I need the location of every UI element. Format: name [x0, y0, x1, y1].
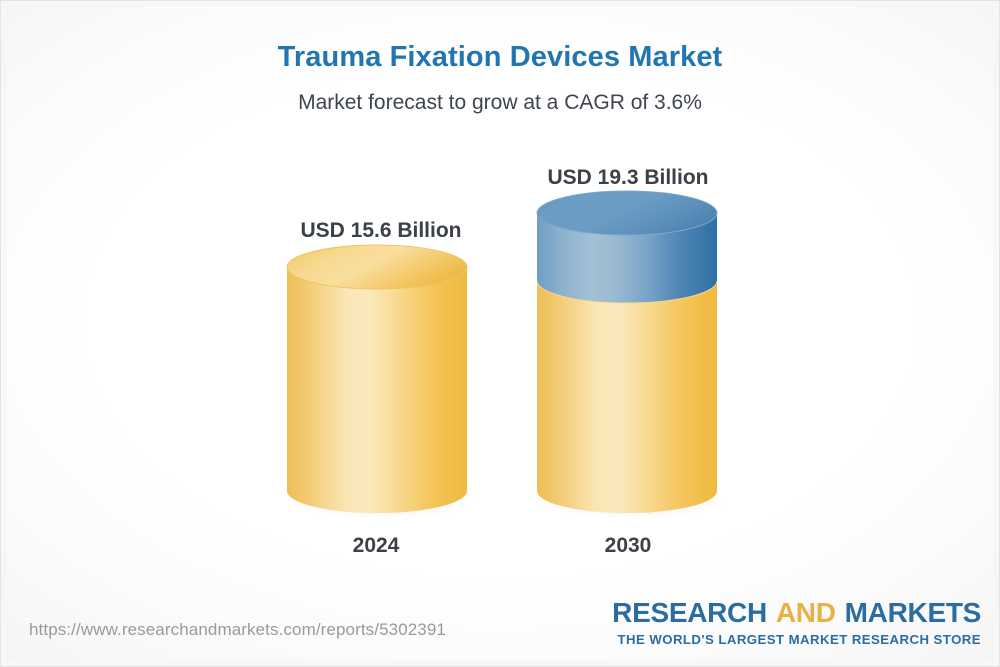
infographic-canvas: Trauma Fixation Devices Market Market fo… — [0, 0, 1000, 667]
source-url[interactable]: https://www.researchandmarkets.com/repor… — [29, 620, 446, 640]
bar-value-label-2030: USD 19.3 Billion — [468, 166, 788, 190]
research-and-markets-logo[interactable]: RESEARCHANDMARKETS THE WORLD'S LARGEST M… — [612, 599, 981, 646]
chart-subtitle: Market forecast to grow at a CAGR of 3.6… — [1, 91, 999, 115]
bar-cylinder-2030 — [537, 195, 717, 517]
logo-wordmark: RESEARCHANDMARKETS — [612, 599, 981, 627]
logo-word-and: AND — [776, 597, 836, 628]
bar-value-label-2024: USD 15.6 Billion — [221, 219, 541, 243]
logo-word-markets: MARKETS — [845, 597, 981, 628]
chart-title: Trauma Fixation Devices Market — [1, 41, 999, 74]
cylinder-segment-base — [537, 281, 717, 513]
logo-word-research: RESEARCH — [612, 597, 767, 628]
cylinder-body — [287, 267, 467, 513]
logo-tagline: THE WORLD'S LARGEST MARKET RESEARCH STOR… — [612, 633, 981, 646]
bar-cylinder-2024 — [287, 249, 467, 517]
category-label-2030: 2030 — [508, 534, 748, 558]
category-label-2024: 2024 — [256, 534, 496, 558]
